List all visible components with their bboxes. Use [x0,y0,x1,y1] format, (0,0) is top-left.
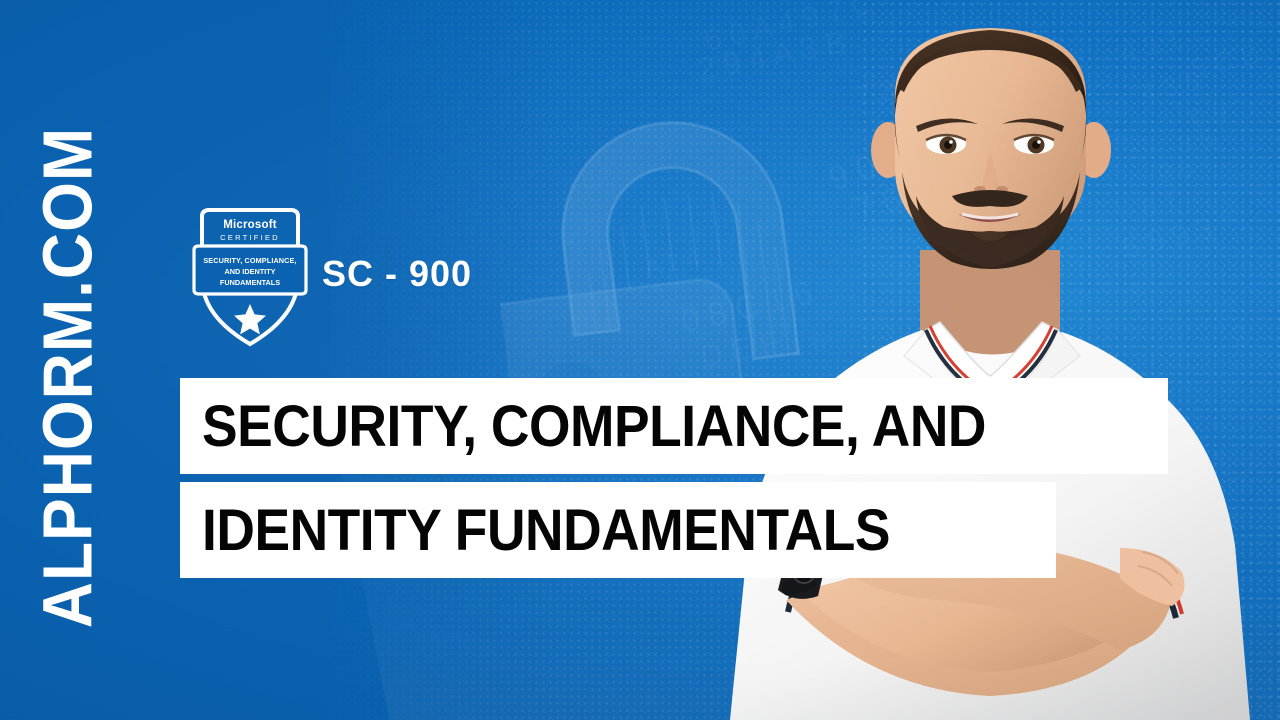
course-title-bar-1: SECURITY, COMPLIANCE, AND [180,378,1168,474]
microsoft-certified-badge: Microsoft CERTIFIED SECURITY, COMPLIANCE… [192,204,308,350]
course-title-line-1: SECURITY, COMPLIANCE, AND [202,393,986,460]
exam-code: SC - 900 [322,253,472,295]
background-vignette [0,0,1280,720]
course-title-bar-2: IDENTITY FUNDAMENTALS [180,482,1056,578]
brand-name: ALPHORM.COM [27,127,108,628]
course-title-line-2: IDENTITY FUNDAMENTALS [202,497,890,564]
brand-watermark: ALPHORM.COM [27,28,107,720]
course-thumbnail: 6 0 A 4 9 7 C2 9 4 A 3 B7 3 B9 0 37 60 8… [0,0,1280,720]
